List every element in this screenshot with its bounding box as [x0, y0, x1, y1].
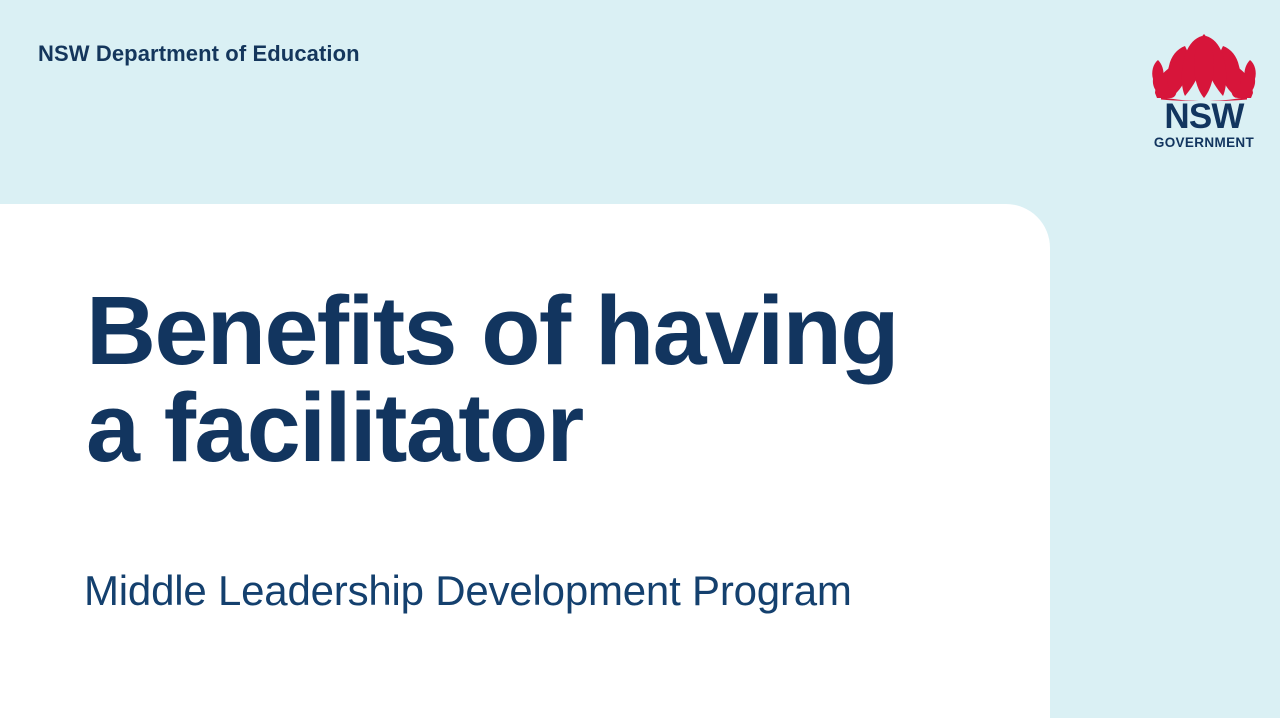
- slide-subtitle: Middle Leadership Development Program: [84, 566, 1004, 616]
- waratah-flower-icon: [1150, 33, 1258, 101]
- slide-header-band: NSW Department of Education: [0, 0, 1280, 204]
- slide-title-line-2: a facilitator: [86, 379, 986, 476]
- logo-wordmark: NSW GOVERNMENT: [1150, 99, 1258, 150]
- slide-title-line-1: Benefits of having: [86, 282, 986, 379]
- nsw-government-logo: NSW GOVERNMENT: [1150, 33, 1258, 153]
- slide-content-card: Benefits of having a facilitator Middle …: [0, 204, 1050, 718]
- presentation-slide: NSW Department of Education: [0, 0, 1280, 718]
- organisation-name: NSW Department of Education: [38, 41, 360, 67]
- logo-government-text: GOVERNMENT: [1150, 135, 1258, 150]
- slide-title: Benefits of having a facilitator: [86, 282, 986, 476]
- logo-nsw-text: NSW: [1150, 99, 1258, 134]
